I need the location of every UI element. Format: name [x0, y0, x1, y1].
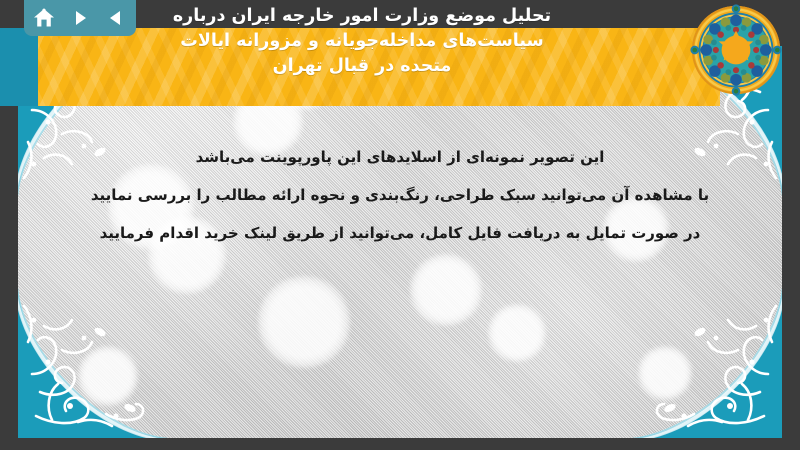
bokeh-circle [258, 276, 350, 368]
body-line: این تصویر نمونه‌ای از اسلایدهای این پاور… [58, 138, 742, 176]
slide-viewer-window: این تصویر نمونه‌ای از اسلایدهای این پاور… [0, 0, 800, 450]
bokeh-circle [488, 304, 546, 362]
banner-arrow-shape [0, 28, 38, 106]
body-line: در صورت تمایل به دریافت فایل کامل، می‌تو… [58, 214, 742, 252]
persian-medallion-icon [688, 2, 784, 98]
home-button[interactable] [31, 5, 57, 31]
bokeh-circle [638, 346, 692, 400]
bokeh-circle [410, 254, 482, 326]
body-line: با مشاهده آن می‌توانید سبک طراحی، رنگ‌بن… [58, 176, 742, 214]
back-button[interactable] [103, 5, 129, 31]
bokeh-circle [78, 346, 138, 406]
home-icon [33, 8, 55, 28]
forward-button[interactable] [67, 5, 93, 31]
triangle-right-icon [71, 9, 89, 27]
page-title: تحلیل موضع وزارت امور خارجه ایران درباره… [46, 4, 678, 79]
triangle-left-icon [107, 9, 125, 27]
slide-title-banner: تحلیل موضع وزارت امور خارجه ایران درباره… [0, 28, 720, 106]
slide-body-text: این تصویر نمونه‌ای از اسلایدهای این پاور… [58, 138, 742, 252]
navigation-bar [24, 0, 136, 36]
